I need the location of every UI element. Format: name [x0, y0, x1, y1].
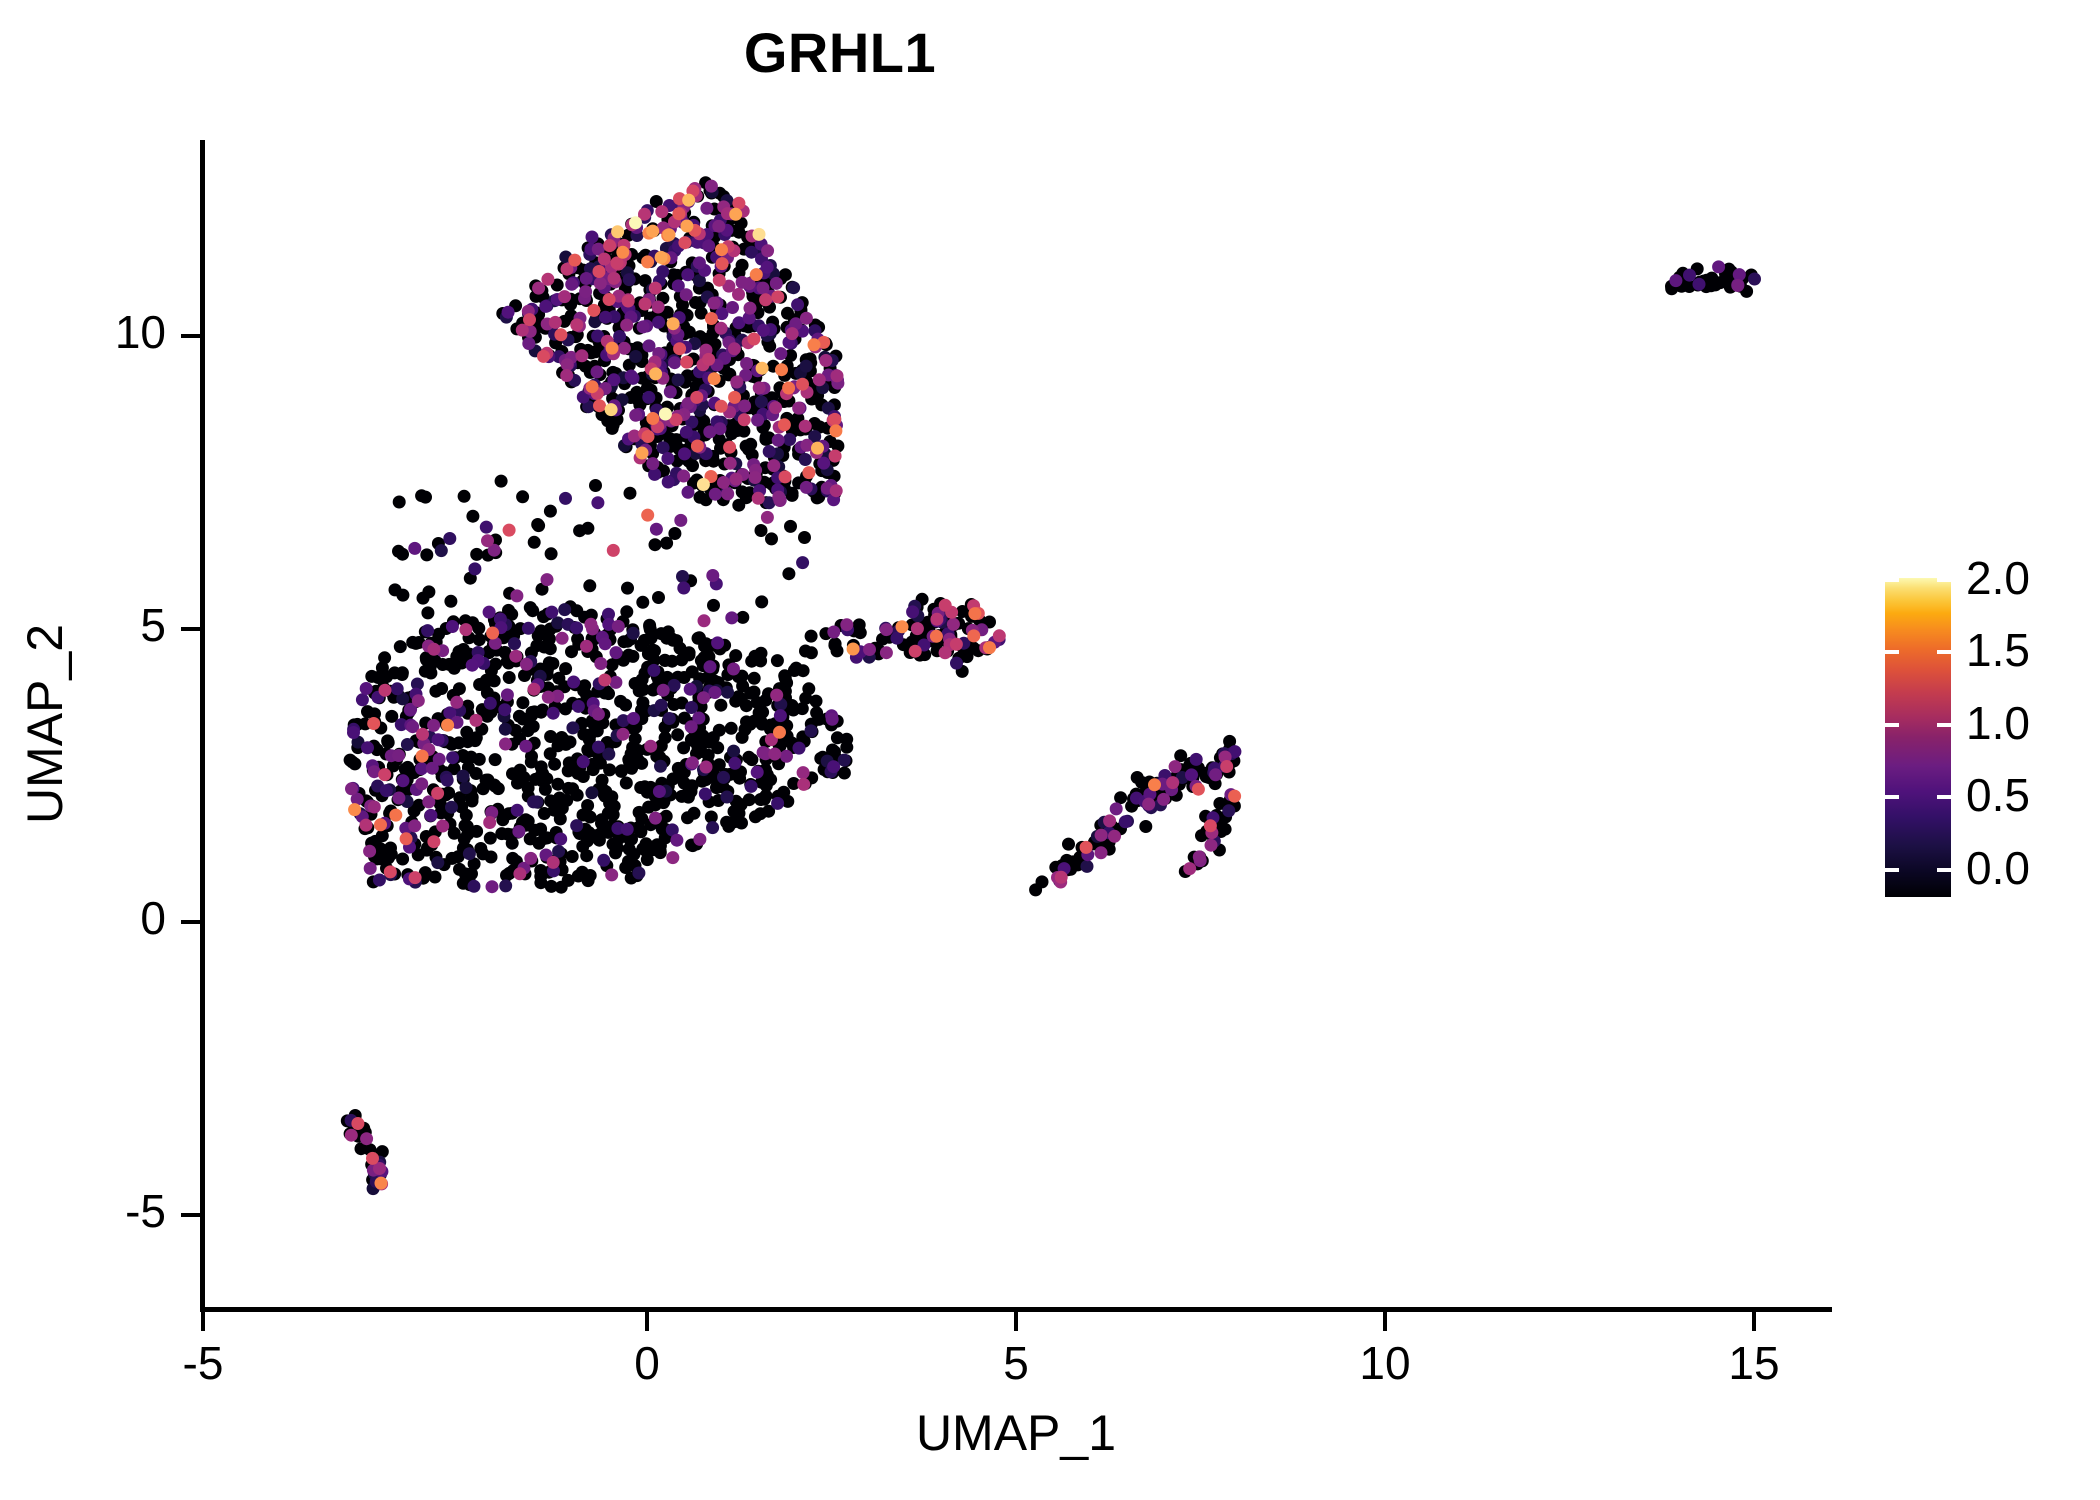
colorbar-label: 0.5	[1966, 768, 2100, 822]
colorbar-tick	[1937, 723, 1951, 727]
colorbar-tick	[1885, 723, 1899, 727]
x-tick-label: -5	[103, 1336, 303, 1390]
colorbar-gradient	[1885, 578, 1951, 897]
y-tick-mark	[181, 1213, 200, 1217]
colorbar-tick	[1937, 868, 1951, 872]
x-tick-label: 5	[916, 1336, 1116, 1390]
y-tick-mark	[181, 627, 200, 631]
x-tick-label: 10	[1285, 1336, 1485, 1390]
scatter-plot-area	[205, 140, 1832, 1307]
x-tick-label: 0	[547, 1336, 747, 1390]
y-tick-mark	[181, 920, 200, 924]
colorbar-tick	[1937, 578, 1951, 582]
y-axis-title: UMAP_2	[16, 364, 74, 1084]
colorbar-tick	[1937, 795, 1951, 799]
colorbar-tick	[1885, 868, 1899, 872]
colorbar-tick	[1885, 795, 1899, 799]
x-axis-title: UMAP_1	[200, 1404, 1832, 1462]
colorbar-legend: 2.0 1.5 1.0 0.5 0.0	[1878, 560, 2088, 920]
x-tick-mark	[1752, 1312, 1756, 1331]
colorbar-label: 0.0	[1966, 841, 2100, 895]
page-title: GRHL1	[0, 22, 1680, 84]
y-tick-label: 10	[0, 305, 166, 359]
colorbar-tick	[1885, 650, 1899, 654]
scatter-points	[205, 140, 1832, 1307]
umap-feature-plot: GRHL1 -5 0 5 10 15 10 5 0 -5 UMAP_1 UMAP…	[0, 0, 2100, 1500]
x-tick-mark	[645, 1312, 649, 1331]
colorbar-tick	[1885, 578, 1899, 582]
y-axis-line	[200, 140, 205, 1312]
y-tick-mark	[181, 334, 200, 338]
x-tick-mark	[1383, 1312, 1387, 1331]
y-tick-label: -5	[0, 1184, 166, 1238]
x-tick-mark	[201, 1312, 205, 1331]
colorbar-label: 1.5	[1966, 623, 2100, 677]
colorbar-tick	[1937, 650, 1951, 654]
colorbar-label: 2.0	[1966, 551, 2100, 605]
x-tick-mark	[1014, 1312, 1018, 1331]
x-tick-label: 15	[1654, 1336, 1854, 1390]
colorbar-label: 1.0	[1966, 696, 2100, 750]
